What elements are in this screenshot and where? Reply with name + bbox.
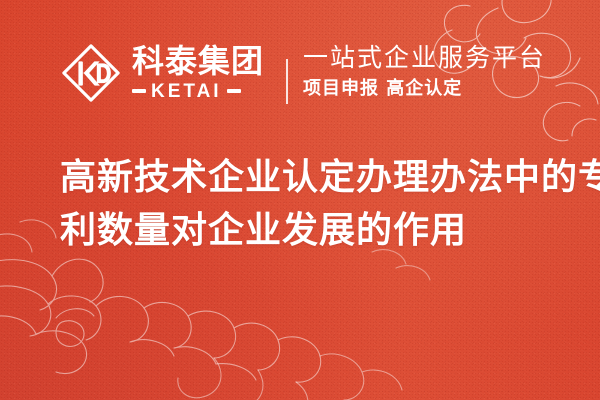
brand-name-en-row: KETAI bbox=[132, 82, 264, 101]
tagline-block: 一站式企业服务平台 项目申报 高企认定 bbox=[303, 42, 546, 101]
tagline-sub: 项目申报 高企认定 bbox=[303, 78, 546, 101]
page-title-line-1: 高新技术企业认定办理办法中的专 bbox=[60, 152, 572, 205]
dash-right-icon bbox=[227, 89, 241, 93]
brand-name-en: KETAI bbox=[151, 82, 222, 101]
ketai-diamond-kt-monogram-logo-icon bbox=[60, 42, 122, 104]
brand-header: 科泰集团 KETAI bbox=[60, 32, 264, 114]
brand-name-cn: 科泰集团 bbox=[132, 45, 264, 79]
dash-left-icon bbox=[132, 89, 146, 93]
article-cover-banner: 科泰集团 KETAI 一站式企业服务平台 项目申报 高企认定 高新技术企业认定办… bbox=[0, 0, 600, 400]
brand-wordmark: 科泰集团 KETAI bbox=[132, 45, 264, 101]
page-title: 高新技术企业认定办理办法中的专 利数量对企业发展的作用 bbox=[60, 152, 572, 257]
header-vertical-divider bbox=[286, 59, 288, 104]
page-title-line-2: 利数量对企业发展的作用 bbox=[60, 205, 572, 258]
tagline-main: 一站式企业服务平台 bbox=[303, 42, 546, 73]
